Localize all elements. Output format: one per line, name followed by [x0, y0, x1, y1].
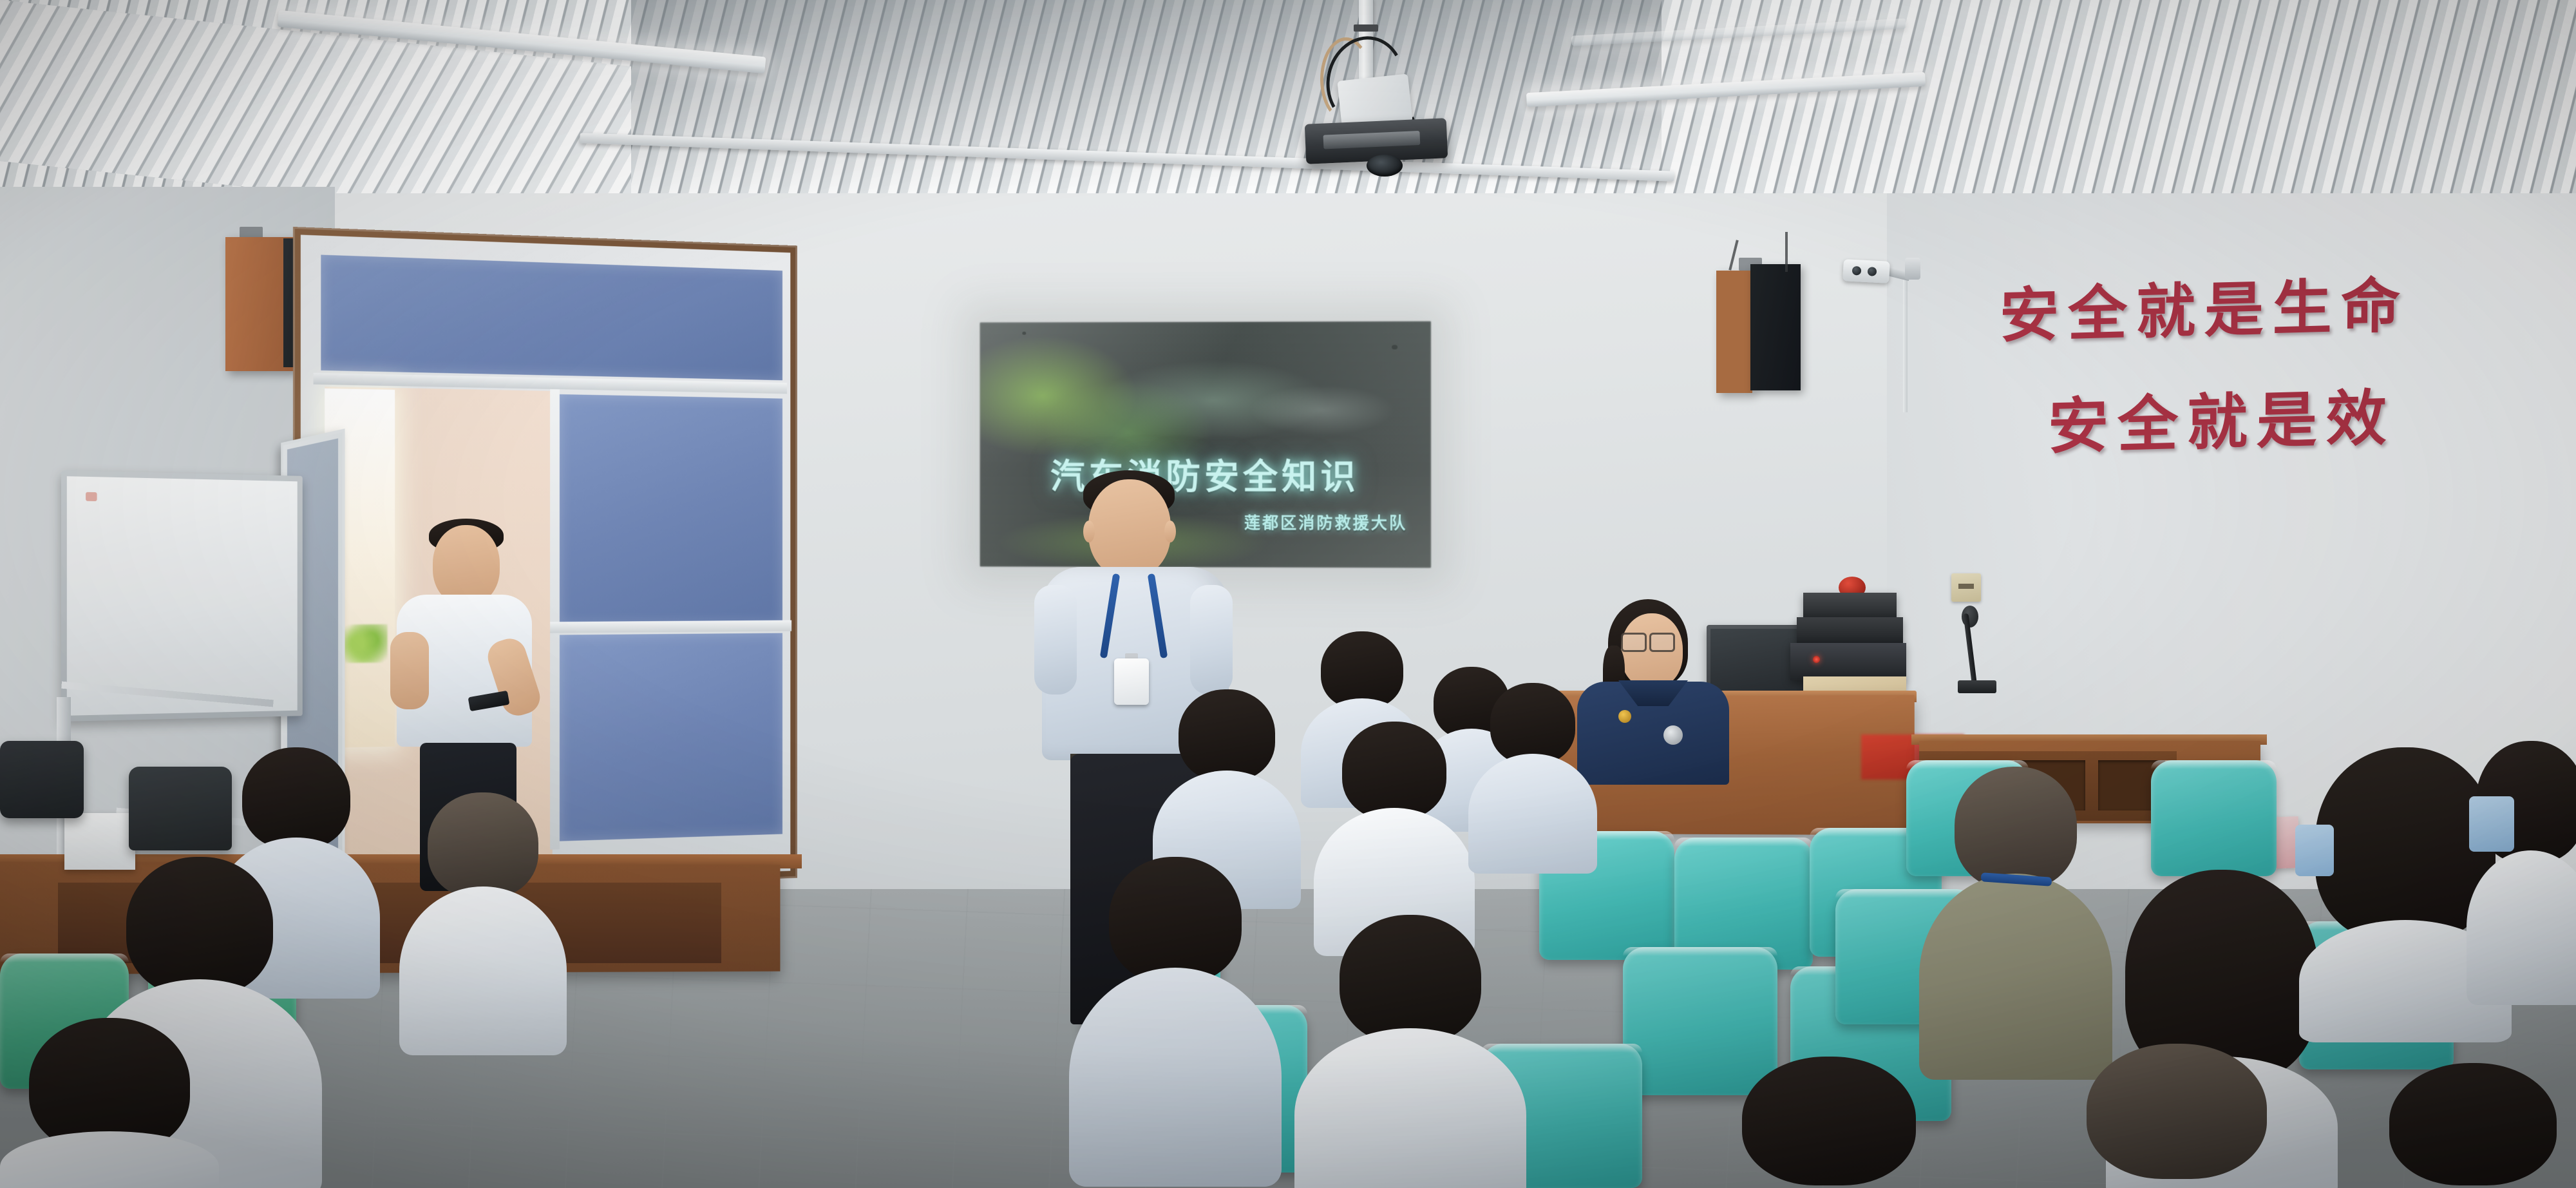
glasses-lens: [1621, 633, 1647, 652]
wall-slogan-line-2: 安全就是效: [2047, 369, 2396, 466]
head-back: [2389, 1063, 2557, 1185]
arm: [390, 632, 429, 709]
audience-member: [1919, 767, 2112, 1076]
projector-panel: [1323, 131, 1421, 149]
id-badge: [1114, 658, 1149, 705]
slide-subtitle: 莲都区消防救援大队: [1244, 510, 1407, 534]
speaker-grille-right: [1750, 264, 1801, 390]
chair-rim: [1623, 947, 1777, 956]
head-back: [1321, 631, 1403, 709]
cctv-lens: [1852, 266, 1862, 276]
glasses-lens: [1649, 633, 1675, 652]
projector-pole-band: [1354, 24, 1378, 32]
whiteboard-surface[interactable]: [67, 476, 298, 716]
cctv-camera-icon: [1842, 259, 1890, 283]
shoulder-insignia: [1618, 710, 1631, 723]
chair-rim: [1674, 838, 1813, 847]
shirt: [0, 1131, 219, 1188]
uniform-badge: [1663, 725, 1683, 745]
office-chair[interactable]: [0, 741, 84, 818]
head-back: [1340, 915, 1481, 1044]
door-mullion-vertical: [550, 387, 560, 850]
empty-chair[interactable]: [2151, 760, 2277, 876]
meeting-room-photo: 汽车消防安全知识 莲都区消防救援大队 安全就是生命 安全就是效: [0, 0, 2576, 1188]
av-amplifier-unit: [1797, 617, 1903, 644]
blue-glass-panel-mid: [560, 394, 782, 626]
head-back: [126, 857, 273, 996]
head: [1088, 479, 1171, 577]
audience-member: [0, 1018, 219, 1188]
audience-member: [399, 792, 567, 1050]
whiteboard-mark: [86, 492, 97, 501]
eyeglasses: [1621, 633, 1676, 649]
cctv-wall-mount: [1905, 258, 1920, 280]
cctv-lens: [1868, 267, 1877, 276]
projector-lens: [1367, 155, 1403, 177]
av-power-led: [1813, 656, 1820, 663]
shirt: [1069, 968, 1282, 1187]
sleeve: [1190, 585, 1233, 695]
blue-glass-panel-low: [560, 633, 782, 841]
av-amplifier-unit: [1790, 643, 1906, 680]
head-back: [2087, 1044, 2267, 1179]
shirt: [1468, 754, 1597, 874]
shirt: [2467, 850, 2576, 1005]
head-back: [428, 792, 538, 898]
wall-conduit: [1903, 277, 1908, 412]
fire-officer-person: [1581, 599, 1729, 773]
microphone-base[interactable]: [1958, 680, 1996, 693]
audience-member: [1700, 1057, 1958, 1188]
audience-member: [2048, 1044, 2306, 1188]
speaker-wire: [1785, 232, 1788, 272]
face-mask: [2469, 796, 2514, 852]
head-back: [1179, 689, 1275, 781]
wall-power-outlet[interactable]: [1951, 573, 1981, 602]
outlet-slot: [1958, 584, 1974, 589]
audience-member: [1069, 857, 1282, 1185]
head-back: [1342, 722, 1446, 819]
wall-speck: [1022, 332, 1026, 335]
ear: [1164, 521, 1176, 542]
blue-glass-transom: [321, 254, 782, 380]
wall-speck: [1392, 345, 1397, 349]
shirt: [1294, 1028, 1526, 1188]
audience-member: [1314, 722, 1475, 947]
ear: [1083, 521, 1095, 542]
head: [433, 525, 500, 605]
head-back: [1109, 857, 1242, 983]
audience-member: [1468, 683, 1597, 863]
audience-member: [2467, 741, 2576, 999]
shirt: [399, 886, 567, 1055]
head-back: [1742, 1057, 1916, 1185]
head-back: [242, 747, 350, 849]
wall-speaker-right: [1716, 271, 1752, 393]
door-mullion-horizontal: [550, 620, 791, 633]
sleeve: [1034, 585, 1077, 695]
head-back: [1490, 683, 1575, 764]
audience-member: [1294, 915, 1526, 1188]
av-amplifier-unit: [1803, 593, 1897, 618]
audience-member: [2351, 1063, 2576, 1188]
chair-rim: [2151, 760, 2277, 769]
head-back: [1955, 767, 2077, 889]
face-mask: [2295, 825, 2334, 876]
wall-slogan-line-1: 安全就是生命: [2000, 258, 2410, 354]
